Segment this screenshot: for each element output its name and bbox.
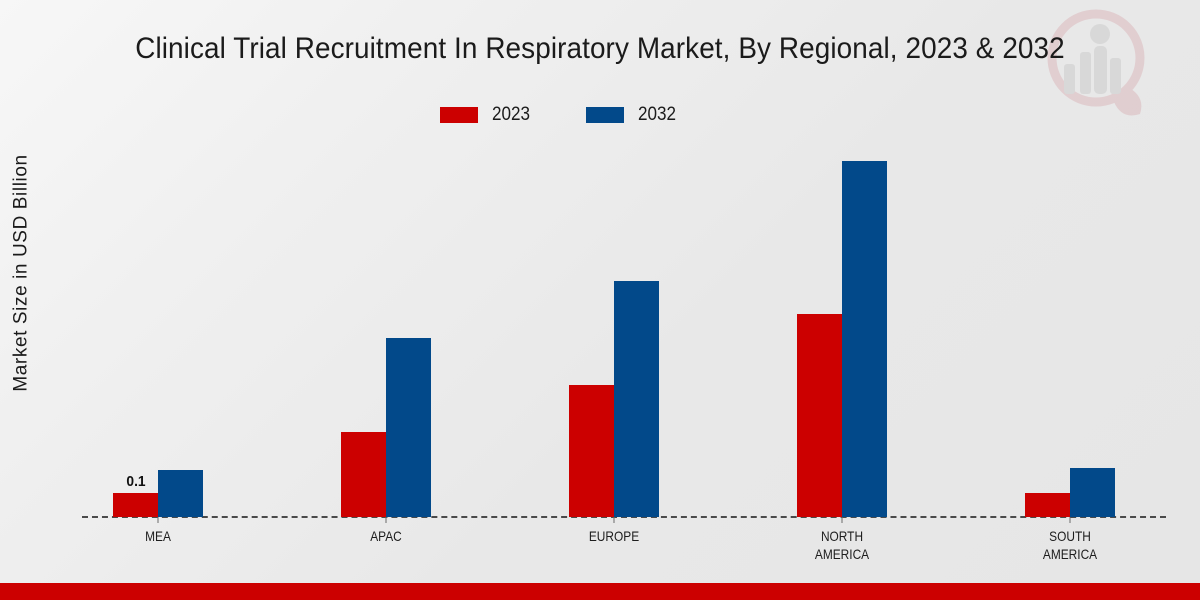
bar-2023-apac[interactable] — [341, 432, 386, 517]
category-label-line: AMERICA — [815, 545, 869, 563]
plot-area: 0.1MEAAPACEUROPENORTHAMERICASOUTHAMERICA — [44, 140, 1184, 518]
x-axis-tick — [1070, 517, 1071, 523]
bar-group: 0.1MEA — [44, 140, 272, 517]
legend-swatch-2023 — [440, 107, 478, 123]
bar-2032-south-america[interactable] — [1070, 468, 1115, 517]
x-axis-tick — [158, 517, 159, 523]
bar-2023-europe[interactable] — [569, 385, 614, 517]
legend-label-2032: 2032 — [638, 104, 676, 126]
y-axis-title-text: Market Size in USD Billion — [11, 154, 33, 391]
category-label-line: NORTH — [815, 527, 869, 545]
chart-page: Clinical Trial Recruitment In Respirator… — [0, 0, 1200, 600]
x-axis-category-label: MEA — [143, 527, 173, 545]
bar-group: NORTHAMERICA — [728, 140, 956, 517]
legend-item-2032[interactable]: 2032 — [586, 104, 680, 126]
bar-2023-south-america[interactable] — [1025, 493, 1070, 517]
x-axis-tick — [842, 517, 843, 523]
bar-pair — [797, 161, 887, 517]
category-label-line: APAC — [370, 527, 402, 545]
bar-pair — [569, 281, 659, 517]
bar-value-label: 0.1 — [126, 473, 145, 490]
legend-label-2023: 2023 — [492, 104, 530, 126]
bar-group: APAC — [272, 140, 500, 517]
bar-2023-north-america[interactable] — [797, 314, 842, 517]
x-axis-tick — [614, 517, 615, 523]
x-axis-category-label: SOUTHAMERICA — [1038, 527, 1102, 563]
bar-2032-europe[interactable] — [614, 281, 659, 517]
category-label-line: EUROPE — [589, 527, 639, 545]
bar-group: SOUTHAMERICA — [956, 140, 1184, 517]
footer-accent-bar — [0, 583, 1200, 600]
x-axis-category-label: APAC — [367, 527, 404, 545]
category-label-line: MEA — [145, 527, 171, 545]
y-axis-title: Market Size in USD Billion — [4, 0, 40, 600]
legend-swatch-2032 — [586, 107, 624, 123]
bar-2023-mea[interactable]: 0.1 — [113, 493, 158, 517]
x-axis-category-label: EUROPE — [584, 527, 643, 545]
bar-groups: 0.1MEAAPACEUROPENORTHAMERICASOUTHAMERICA — [44, 140, 1184, 517]
legend-item-2023[interactable]: 2023 — [440, 104, 534, 126]
bar-pair — [1025, 468, 1115, 517]
bar-2032-north-america[interactable] — [842, 161, 887, 517]
bar-pair: 0.1 — [113, 470, 203, 517]
x-axis-category-label: NORTHAMERICA — [810, 527, 874, 563]
category-label-line: SOUTH — [1043, 527, 1097, 545]
chart-legend: 2023 2032 — [0, 104, 1200, 126]
bar-pair — [341, 338, 431, 517]
bar-group: EUROPE — [500, 140, 728, 517]
bar-2032-apac[interactable] — [386, 338, 431, 517]
x-axis-tick — [386, 517, 387, 523]
chart-title: Clinical Trial Recruitment In Respirator… — [42, 32, 1158, 66]
bar-2032-mea[interactable] — [158, 470, 203, 517]
category-label-line: AMERICA — [1043, 545, 1097, 563]
